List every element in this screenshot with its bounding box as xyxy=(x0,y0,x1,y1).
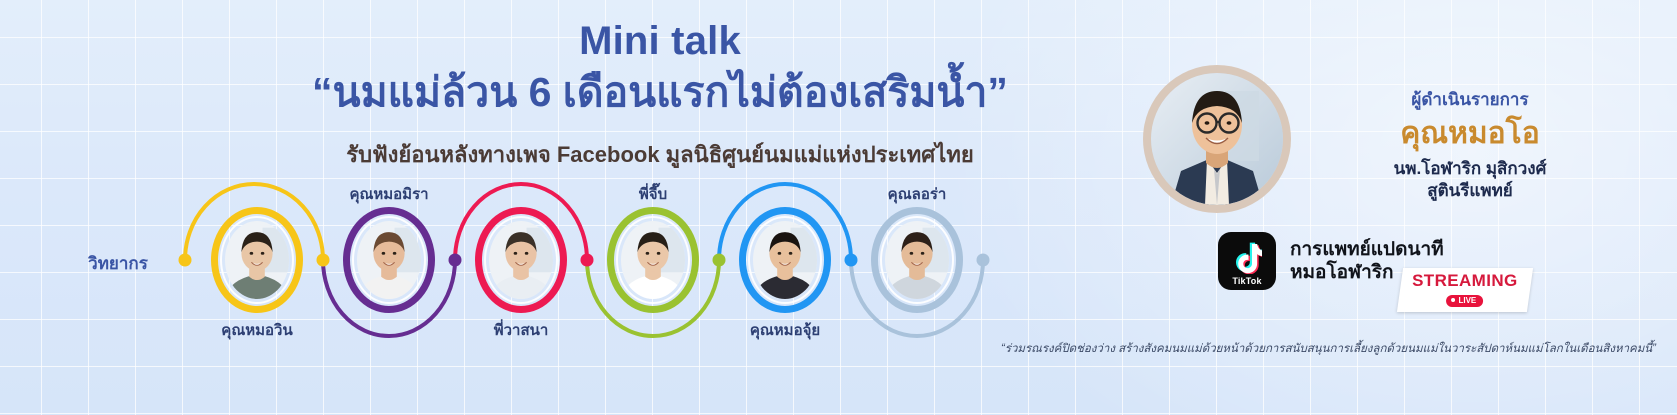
speaker-name-label: คุณหมอวิน xyxy=(221,318,292,342)
tiktok-wordmark: TikTok xyxy=(1218,276,1276,286)
speaker-photo xyxy=(885,221,949,299)
footer-note: “ร่วมรณรงค์ปิดช่องว่าง สร้างสังคมนมแม่ด้… xyxy=(836,340,1656,358)
speaker-portrait-illustration xyxy=(225,221,289,299)
page-title-en: Mini talk xyxy=(230,18,1090,64)
host-avatar-frame xyxy=(1143,65,1291,213)
speaker-avatar[interactable] xyxy=(211,207,303,313)
live-dot-icon xyxy=(1451,298,1455,302)
tiktok-channel-line1: การแพทย์แปดนาที xyxy=(1290,238,1444,261)
speaker-name-label: คุณหมอจุ้ย xyxy=(750,318,820,342)
speaker-photo xyxy=(225,221,289,299)
speaker-avatar[interactable] xyxy=(475,207,567,313)
speaker-timeline: คุณหมอวิน คุณหมอมิรา xyxy=(0,178,1060,348)
timeline-dot xyxy=(977,254,990,267)
live-label: LIVE xyxy=(1458,296,1476,305)
speaker-name-label: คุณหมอมิรา xyxy=(349,182,428,206)
timeline-dot xyxy=(449,254,462,267)
speaker-portrait-illustration xyxy=(489,221,553,299)
timeline-dot xyxy=(581,254,594,267)
speaker-name-label: พี่จี๊บ xyxy=(639,182,667,206)
page-subtitle: รับฟังย้อนหลังทางเพจ Facebook มูลนิธิศูน… xyxy=(230,137,1090,172)
host-specialty: สูตินรีแพทย์ xyxy=(1300,180,1640,203)
event-banner: Mini talk “นมแม่ล้วน 6 เดือนแรกไม่ต้องเส… xyxy=(0,0,1677,415)
tiktok-icon[interactable]: TikTok xyxy=(1218,232,1276,290)
speaker-portrait-illustration xyxy=(753,221,817,299)
host-role-label: ผู้ดำเนินรายการ xyxy=(1300,86,1640,113)
speaker-portrait-illustration xyxy=(357,221,421,299)
headline-block: Mini talk “นมแม่ล้วน 6 เดือนแรกไม่ต้องเส… xyxy=(230,18,1090,172)
timeline-dot xyxy=(317,254,330,267)
speaker-name-label: คุณลอร่า xyxy=(888,182,947,206)
timeline-dot xyxy=(179,254,192,267)
host-avatar xyxy=(1151,73,1283,205)
streaming-label: STREAMING xyxy=(1412,272,1518,289)
speaker-avatar[interactable] xyxy=(739,207,831,313)
speaker-photo xyxy=(357,221,421,299)
streaming-badge: STREAMING LIVE xyxy=(1397,268,1533,312)
speaker-avatar[interactable] xyxy=(607,207,699,313)
speaker-photo xyxy=(489,221,553,299)
live-pill: LIVE xyxy=(1446,295,1483,307)
speaker-name-label: พี่วาสนา xyxy=(494,318,549,342)
page-title-th: “นมแม่ล้วน 6 เดือนแรกไม่ต้องเสริมน้ำ” xyxy=(230,66,1090,119)
host-nickname: คุณหมอโอ xyxy=(1300,117,1640,152)
tiktok-note-glyph xyxy=(1232,242,1262,274)
speaker-photo xyxy=(621,221,685,299)
speaker-photo xyxy=(753,221,817,299)
timeline-dot xyxy=(845,254,858,267)
host-portrait-illustration xyxy=(1151,73,1283,205)
speaker-avatar[interactable] xyxy=(343,207,435,313)
host-fullname: นพ.โอฬาริก มุสิกวงศ์ xyxy=(1300,158,1640,181)
timeline-dot xyxy=(713,254,726,267)
speaker-portrait-illustration xyxy=(621,221,685,299)
speaker-avatar[interactable] xyxy=(871,207,963,313)
host-info-block: ผู้ดำเนินรายการ คุณหมอโอ นพ.โอฬาริก มุสิ… xyxy=(1300,86,1640,203)
speaker-portrait-illustration xyxy=(885,221,949,299)
